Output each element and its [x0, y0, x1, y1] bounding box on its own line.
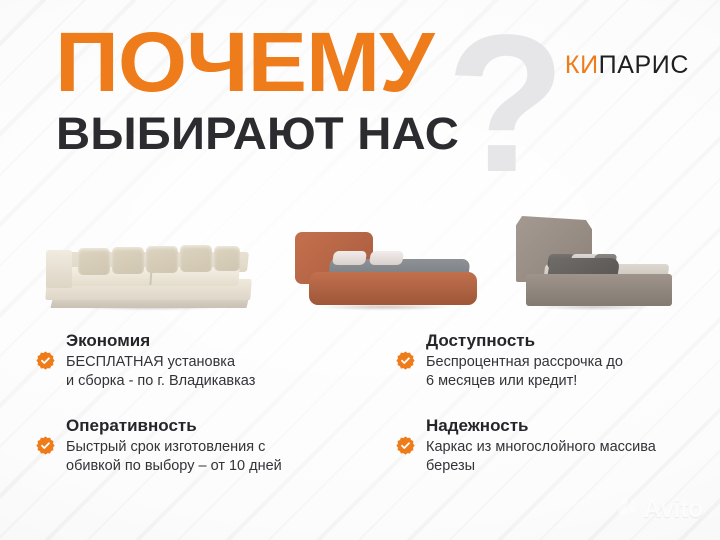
- brand-logo-rest: ПАРИС: [599, 51, 689, 79]
- bed-pillow: [369, 251, 404, 265]
- brand-logo-accent: КИ: [565, 51, 599, 79]
- check-badge-icon: [396, 351, 415, 370]
- brand-logo: КИПАРИС: [565, 51, 689, 79]
- benefit-title: Доступность: [426, 330, 706, 352]
- benefits-column-right: Доступность Беспроцентная рассрочка до 6…: [396, 330, 706, 500]
- avito-wordmark: Avito: [643, 497, 703, 522]
- check-badge-icon: [36, 436, 55, 455]
- sofa-armrest: [46, 250, 72, 288]
- headline-primary: ПОЧЕМУ: [55, 16, 433, 108]
- bed-pillow: [332, 251, 367, 265]
- benefit-item-economy: Экономия БЕСПЛАТНАЯ установка и сборка -…: [36, 330, 356, 391]
- product-showcase: [0, 185, 720, 320]
- benefit-title: Оперативность: [66, 415, 356, 437]
- product-image-sofa: [38, 220, 263, 312]
- benefit-description: БЕСПЛАТНАЯ установка и сборка - по г. Вл…: [66, 353, 356, 391]
- headline-secondary: ВЫБИРАЮТ НАС: [56, 108, 459, 160]
- bed-frame: [526, 274, 672, 306]
- sofa-cushion: [180, 245, 212, 272]
- benefit-description: Беспроцентная рассрочка до 6 месяцев или…: [426, 353, 706, 391]
- question-mark-watermark: ?: [446, 6, 562, 202]
- check-badge-icon: [36, 351, 55, 370]
- benefit-item-speed: Оперативность Быстрый срок изготовления …: [36, 415, 356, 476]
- sofa-cushion: [78, 248, 110, 275]
- sofa-cushion: [214, 246, 240, 271]
- benefit-title: Надежность: [426, 415, 706, 437]
- avito-dots-icon: [617, 496, 639, 523]
- banner-header: ? ПОЧЕМУ ВЫБИРАЮТ НАС КИПАРИС: [0, 0, 720, 185]
- benefit-item-reliability: Надежность Каркас из многослойного масси…: [396, 415, 706, 476]
- benefit-item-affordability: Доступность Беспроцентная рассрочка до 6…: [396, 330, 706, 391]
- promo-banner: ? ПОЧЕМУ ВЫБИРАЮТ НАС КИПАРИС: [0, 0, 720, 540]
- product-image-bed-taupe: [508, 200, 678, 312]
- benefit-description: Каркас из многослойного массива березы: [426, 438, 706, 476]
- bed-frame: [309, 272, 477, 305]
- benefit-title: Экономия: [66, 330, 356, 352]
- benefit-description: Быстрый срок изготовления с обивкой по в…: [66, 438, 356, 476]
- avito-watermark: Avito: [617, 496, 703, 523]
- product-image-bed-terracotta: [287, 204, 482, 312]
- benefits-column-left: Экономия БЕСПЛАТНАЯ установка и сборка -…: [36, 330, 356, 500]
- sofa-cushion: [146, 246, 178, 273]
- check-badge-icon: [396, 436, 415, 455]
- benefits-section: Экономия БЕСПЛАТНАЯ установка и сборка -…: [0, 330, 720, 530]
- sofa-cushion: [112, 247, 144, 274]
